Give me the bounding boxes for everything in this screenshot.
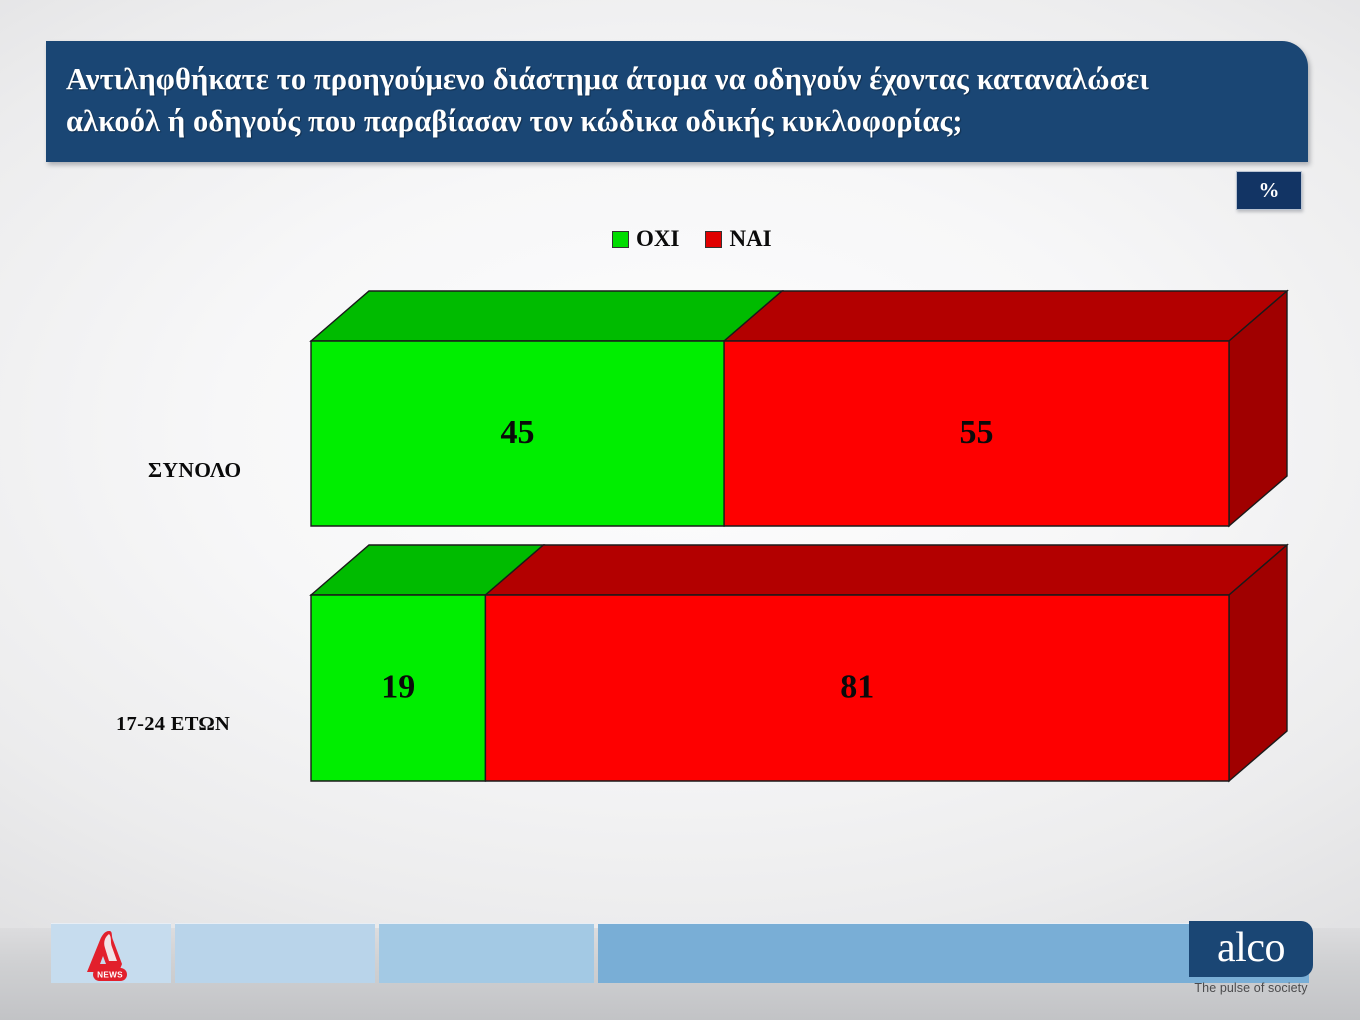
unit-badge-label: % [1259,178,1280,203]
alco-wordmark: alco [1217,927,1285,969]
bar-value-label: 45 [501,414,535,451]
slide-root: Αντιληφθήκατε το προηγούμενο διάστημα άτ… [0,0,1360,1020]
legend-item-oxi[interactable]: ΟΧΙ [612,226,679,252]
page-title: Αντιληφθήκατε το προηγούμενο διάστημα άτ… [66,58,1282,142]
legend-label-oxi: ΟΧΙ [636,226,679,252]
bar-value-label: 55 [960,414,994,451]
bar-synolo[interactable] [311,291,1287,526]
alpha-news-logo-icon: NEWS [79,928,141,982]
bar-value-label: 19 [381,668,415,705]
chart-legend: ΟΧΙ ΝΑΙ [612,226,772,252]
footer-block-2 [175,923,375,983]
footer-block-3 [379,923,594,983]
category-label-17-24: 17-24 ΕΤΩΝ [116,713,230,736]
footer-block-alpha-logo: NEWS [51,923,171,983]
legend-swatch-nai [705,231,722,248]
footer-blocks: NEWS [51,923,1309,983]
bar-value-label: 81 [840,668,874,705]
legend-swatch-oxi [612,231,629,248]
svg-text:NEWS: NEWS [97,970,123,979]
bar-value-labels: 45551981 [381,414,993,706]
category-label-synolo: ΣΥΝΟΛΟ [148,458,242,483]
legend-label-nai: ΝΑΙ [729,226,771,252]
alco-branding: alco The pulse of society [1189,921,1313,995]
unit-badge: % [1236,171,1302,210]
alco-tagline: The pulse of society [1189,981,1313,995]
title-bar: Αντιληφθήκατε το προηγούμενο διάστημα άτ… [46,41,1308,162]
bar-age-17-24[interactable] [311,545,1287,781]
legend-item-nai[interactable]: ΝΑΙ [705,226,771,252]
bars-group [311,291,1287,781]
alco-logo-box: alco [1189,921,1313,977]
